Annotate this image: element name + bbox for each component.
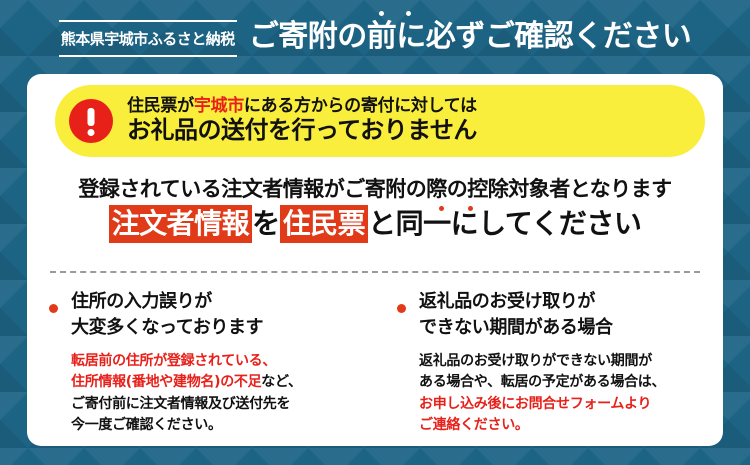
exclamation-stem (88, 108, 95, 126)
title-emphasis-dots (379, 11, 411, 16)
note-body-line-red: お申し込み後にお問合せフォームより (419, 394, 713, 415)
bullet-dot-icon (397, 304, 406, 313)
alert-line1-prefix: 住民票が (127, 96, 194, 116)
statement-primary: 登録されている注文者情報がご寄附の際の控除対象者となります (27, 173, 723, 203)
statement-particle: を (252, 207, 280, 240)
promotional-banner: 熊本県宇城市ふるさと納税 ご寄附の前に必ずご確認ください 住民票が宇城市にある方… (0, 0, 750, 465)
note-heading: 返礼品のお受け取りが できない期間がある場合 (419, 289, 713, 341)
note-heading-line-2: できない期間がある場合 (419, 315, 713, 341)
statement-emphasis-dots (439, 206, 473, 211)
note-body-line-red: ご連絡ください。 (419, 415, 713, 436)
exclamation-dot (88, 129, 95, 136)
page-title: ご寄附の前に必ずご確認ください (249, 22, 692, 52)
note-body-line: 住所情報(番地や建物名)の不足など、 (71, 372, 365, 393)
note-column-delivery: 返礼品のお受け取りが できない期間がある場合 返礼品のお受け取りができない期間が… (375, 289, 723, 436)
alert-line-2: お礼品の送付を行っておりません (127, 116, 477, 145)
note-body-line: 転居前の住所が登録されている、 (71, 351, 365, 372)
header-rule-bottom (59, 55, 237, 57)
emphasis-dot-icon (439, 206, 444, 211)
alert-line1-suffix: にある方からの寄付に対しては (244, 96, 477, 116)
bullet-dot-icon (49, 304, 58, 313)
content-card: 住民票が宇城市にある方からの寄付に対しては お礼品の送付を行っておりません 登録… (27, 74, 723, 446)
notes-columns: 住所の入力誤りが 大変多くなっております 転居前の住所が登録されている、 住所情… (27, 289, 723, 436)
note-body-line: 今一度ご確認ください。 (71, 415, 365, 436)
note-body-line: ある場合や、転居の予定がある場合は、 (419, 372, 713, 393)
alert-line-1: 住民票が宇城市にある方からの寄付に対しては (127, 97, 477, 117)
emphasis-dot-icon (379, 11, 384, 16)
organization-label-block: 熊本県宇城市ふるさと納税 (59, 18, 237, 57)
note-heading: 住所の入力誤りが 大変多くなっております (71, 289, 365, 341)
dashed-divider (50, 271, 700, 273)
note-body: 返礼品のお受け取りができない期間が ある場合や、転居の予定がある場合は、 お申し… (419, 351, 713, 436)
note-body-line: ご寄付前に注文者情報及び送付先を (71, 394, 365, 415)
alert-banner: 住民票が宇城市にある方からの寄付に対しては お礼品の送付を行っておりません (55, 85, 705, 157)
exclamation-icon (69, 99, 113, 143)
highlight-order-info: 注文者情報 (109, 205, 253, 243)
alert-text-block: 住民票が宇城市にある方からの寄付に対しては お礼品の送付を行っておりません (127, 97, 477, 145)
note-heading-line-1: 住所の入力誤りが (71, 289, 365, 315)
note-body-line: 返礼品のお受け取りができない期間が (419, 351, 713, 372)
organization-label: 熊本県宇城市ふるさと納税 (59, 22, 237, 55)
statement-secondary: 注文者情報を住民票と同一にしてください (109, 206, 642, 242)
note-body-black-1: など、 (261, 374, 301, 390)
note-body-red-2: 住所情報(番地や建物名)の不足 (71, 374, 261, 390)
statement-suffix: と同一にしてください (368, 207, 641, 240)
note-body-red-1: 転居前の住所が登録されている、 (71, 353, 276, 369)
note-column-address: 住所の入力誤りが 大変多くなっております 転居前の住所が登録されている、 住所情… (27, 289, 375, 436)
emphasis-dot-icon (468, 206, 473, 211)
alert-line1-highlight: 宇城市 (194, 96, 244, 116)
note-heading-line-2: 大変多くなっております (71, 315, 365, 341)
header-title-block: ご寄附の前に必ずご確認ください (249, 22, 692, 52)
note-heading-line-1: 返礼品のお受け取りが (419, 289, 713, 315)
banner-header: 熊本県宇城市ふるさと納税 ご寄附の前に必ずご確認ください (0, 0, 750, 74)
emphasis-dot-icon (406, 11, 411, 16)
statement-secondary-wrap: 注文者情報を住民票と同一にしてください (27, 206, 723, 242)
note-body: 転居前の住所が登録されている、 住所情報(番地や建物名)の不足など、 ご寄付前に… (71, 351, 365, 436)
highlight-residence-card: 住民票 (280, 205, 369, 243)
